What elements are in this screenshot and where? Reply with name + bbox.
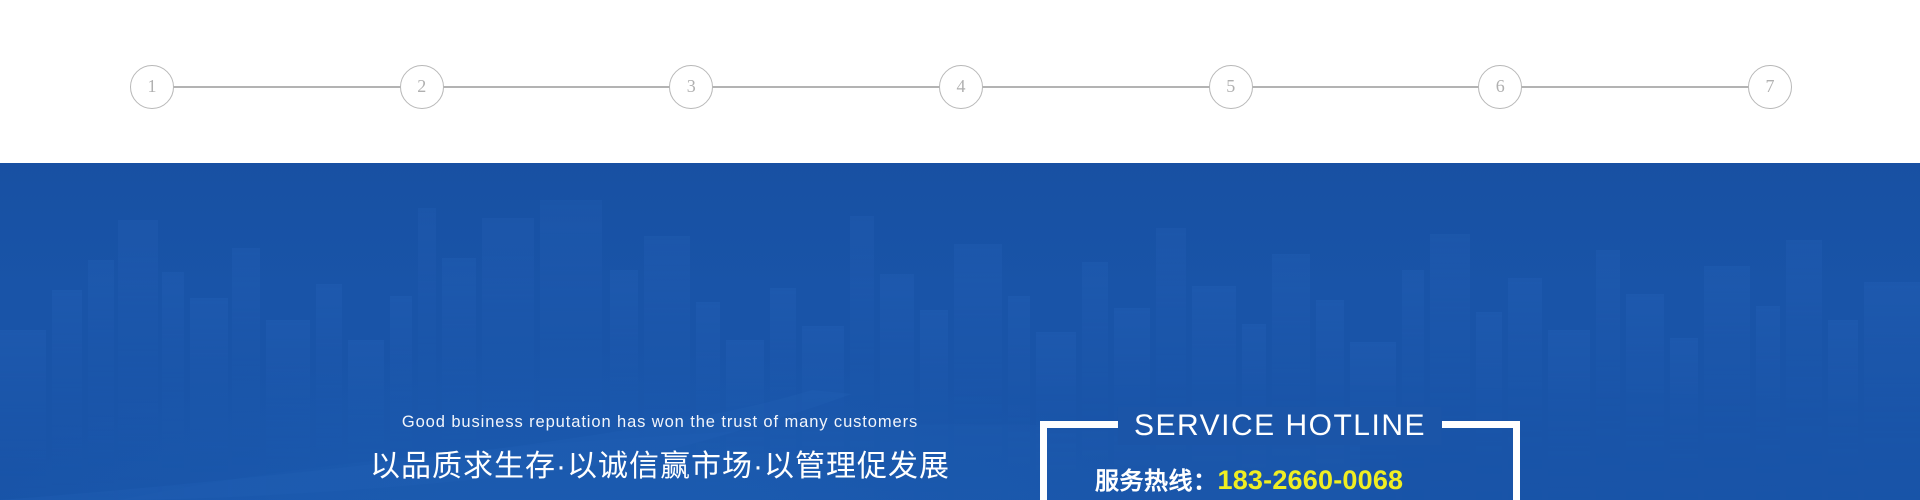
step-node-5[interactable]: 5 bbox=[1209, 65, 1253, 109]
hotline-row-primary: 服务热线： 183-2660-0068 bbox=[1047, 462, 1513, 500]
slogan-block: Good business reputation has won the tru… bbox=[370, 411, 950, 500]
step-node-6[interactable]: 6 bbox=[1478, 65, 1522, 109]
step-node-3[interactable]: 3 bbox=[669, 65, 713, 109]
stepper-band: 1 2 3 4 5 6 7 bbox=[0, 0, 1920, 163]
service-hotline-title: SERVICE HOTLINE bbox=[1118, 407, 1442, 445]
step-node-2[interactable]: 2 bbox=[400, 65, 444, 109]
hero-banner: Good business reputation has won the tru… bbox=[0, 163, 1920, 500]
hotline-numbers-list: 服务热线： 183-2660-0068 0551-63749777 bbox=[1047, 462, 1513, 500]
slogan-main-line: 以品质求生存·以诚信赢市场·以管理促发展 bbox=[370, 447, 950, 487]
hotline-number-primary[interactable]: 183-2660-0068 bbox=[1218, 462, 1404, 498]
service-hotline-box: SERVICE HOTLINE 服务热线： 183-2660-0068 0551… bbox=[1040, 421, 1520, 500]
banner-page: 1 2 3 4 5 6 7 bbox=[0, 0, 1920, 500]
city-skyline-background-image bbox=[0, 200, 1920, 500]
slogan-english-line: Good business reputation has won the tru… bbox=[370, 411, 950, 433]
step-node-7[interactable]: 7 bbox=[1748, 65, 1792, 109]
hotline-label: 服务热线： bbox=[1095, 464, 1218, 500]
step-node-4[interactable]: 4 bbox=[939, 65, 983, 109]
step-node-1[interactable]: 1 bbox=[130, 65, 174, 109]
